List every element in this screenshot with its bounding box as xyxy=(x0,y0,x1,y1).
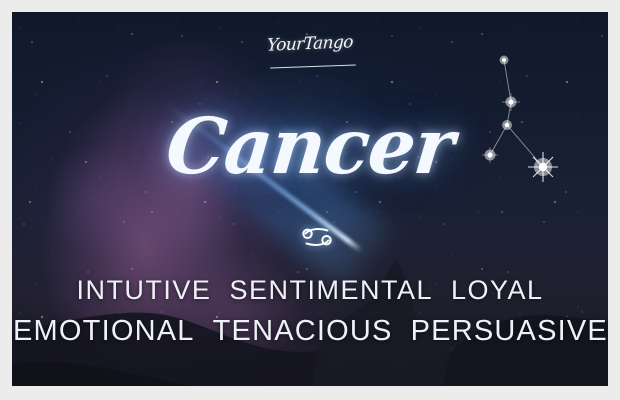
trait-word: EMOTIONAL xyxy=(12,315,196,347)
trait-word: TENACIOUS xyxy=(212,315,394,347)
trait-word: PERSUASIVE xyxy=(410,315,608,347)
trait-word-block: INTUTIVESENTIMENTALLOYAL EMOTIONALTENACI… xyxy=(12,270,608,352)
trait-word: INTUTIVE xyxy=(75,275,212,305)
night-sky-background: YourTango Cancer INTUTIVESENTIMENTALLOYA… xyxy=(12,12,608,386)
trait-line-2: EMOTIONALTENACIOUSPERSUASIVE xyxy=(12,311,608,352)
sign-title: Cancer xyxy=(162,102,457,191)
zodiac-poster-frame: YourTango Cancer INTUTIVESENTIMENTALLOYA… xyxy=(0,0,620,400)
brand-logo-text: YourTango xyxy=(267,32,354,56)
brand-logo-underline xyxy=(270,64,356,68)
trait-line-1: INTUTIVESENTIMENTALLOYAL xyxy=(12,270,608,311)
trait-word: SENTIMENTAL xyxy=(228,275,434,305)
brand-logo[interactable]: YourTango xyxy=(12,34,608,54)
sign-title-container: Cancer xyxy=(12,104,608,190)
trait-word: LOYAL xyxy=(450,275,545,305)
